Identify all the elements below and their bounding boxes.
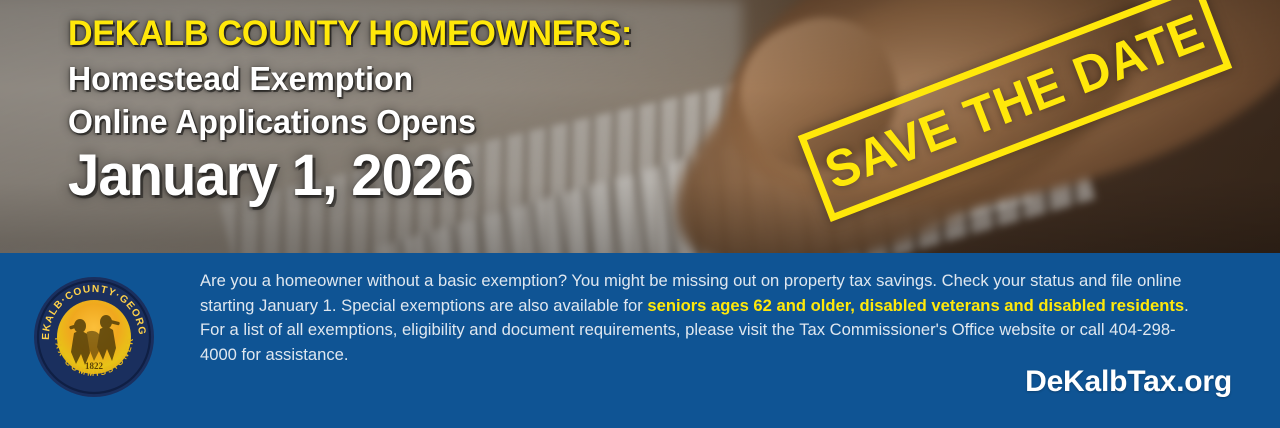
hero-subheadline-line-1: Homestead Exemption xyxy=(68,58,883,100)
dekalb-county-seal-icon: 1822 DEKALB·COUNTY·GEORGIA TAX COMMISSIO… xyxy=(33,276,155,398)
website-url[interactable]: DeKalbTax.org xyxy=(1025,365,1232,399)
hero-date: January 1, 2026 xyxy=(68,145,883,206)
hero-subheadline-line-2: Online Applications Opens xyxy=(68,101,883,143)
hero-headline: DEKALB COUNTY HOMEOWNERS: xyxy=(68,16,883,51)
hero-text-block: DEKALB COUNTY HOMEOWNERS: Homestead Exem… xyxy=(68,16,908,207)
promo-banner: DEKALB COUNTY HOMEOWNERS: Homestead Exem… xyxy=(0,0,1280,428)
info-paragraph-highlight: seniors ages 62 and older, disabled vete… xyxy=(647,296,1184,315)
info-paragraph: Are you a homeowner without a basic exem… xyxy=(200,269,1200,367)
